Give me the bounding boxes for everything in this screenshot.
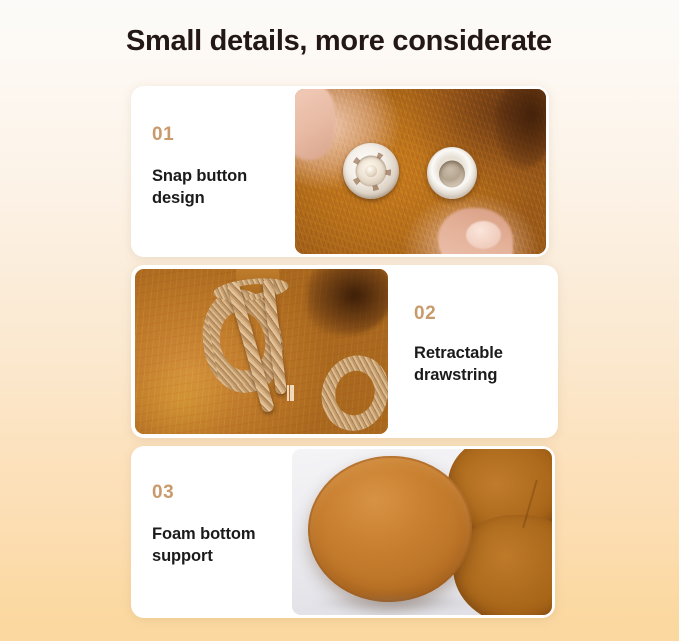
foam-sole-photo xyxy=(292,449,552,615)
drawstring-photo-canvas xyxy=(135,269,388,434)
feature-card-2-number: 02 xyxy=(414,303,436,325)
snap-button-socket xyxy=(343,143,399,199)
feature-card-2[interactable]: 02 Retractable drawstring xyxy=(131,265,558,438)
feature-card-2-title: Retractable drawstring xyxy=(414,343,556,387)
page-title: Small details, more considerate xyxy=(126,24,552,59)
fingernail xyxy=(466,221,501,249)
feature-card-3-number: 03 xyxy=(152,482,174,504)
foam-sole-photo-canvas xyxy=(292,449,552,615)
feature-card-1-text-panel: 01 Snap button design xyxy=(131,86,295,257)
product-feature-infographic: Small details, more considerate 01 Snap … xyxy=(0,0,679,641)
feature-card-3[interactable]: 03 Foam bottom support xyxy=(131,446,555,618)
fabric-logo-mark xyxy=(287,385,294,401)
feature-card-3-title: Foam bottom support xyxy=(152,524,292,568)
drawstring-photo xyxy=(135,269,388,434)
feature-card-2-text-panel: 02 Retractable drawstring xyxy=(388,265,558,438)
shadow-region-right xyxy=(496,89,546,168)
snap-button-photo-canvas xyxy=(295,89,546,254)
feature-card-1-number: 01 xyxy=(152,124,174,146)
snap-button-photo xyxy=(295,89,546,254)
feature-card-1-title: Snap button design xyxy=(152,166,292,210)
snap-button-stud xyxy=(427,147,477,199)
shadow-region-top-right xyxy=(307,269,388,335)
feature-card-3-text-panel: 03 Foam bottom support xyxy=(131,446,292,618)
feature-card-1[interactable]: 01 Snap button design xyxy=(131,86,549,257)
